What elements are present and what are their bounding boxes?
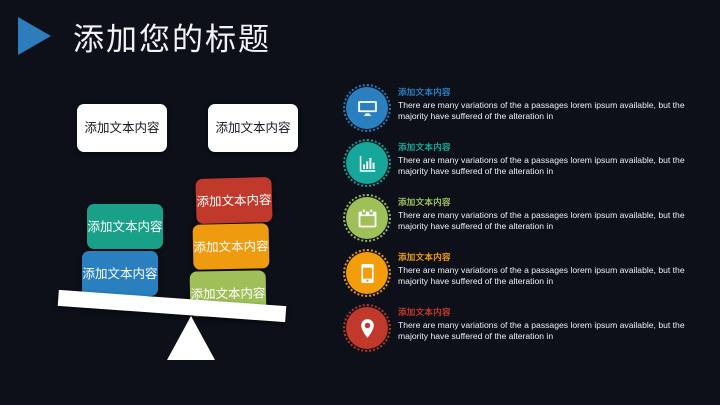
diagram-white-box[interactable]: 添加文本内容 <box>77 104 167 152</box>
list-item-heading: 添加文本内容 <box>398 306 688 318</box>
diagram-right-block-label: 添加文本内容 <box>196 191 271 209</box>
calendar-icon-badge <box>346 197 388 239</box>
diagram-white-box-label: 添加文本内容 <box>84 120 159 136</box>
bar-chart-icon-badge <box>346 142 388 184</box>
list-item[interactable]: 添加文本内容 There are many variations of the … <box>346 85 702 140</box>
list-item-heading: 添加文本内容 <box>398 251 688 263</box>
page-title: 添加您的标题 <box>73 14 271 59</box>
list-item-text: 添加文本内容 There are many variations of the … <box>398 305 688 342</box>
list-item-heading: 添加文本内容 <box>398 86 688 98</box>
dotted-ring <box>343 84 391 132</box>
dotted-ring <box>343 249 391 297</box>
diagram-left-block-label: 添加文本内容 <box>87 219 162 235</box>
dotted-ring <box>343 194 391 242</box>
diagram-right-block[interactable]: 添加文本内容 <box>195 177 272 224</box>
triangle-fulcrum-icon <box>167 316 215 360</box>
list-item[interactable]: 添加文本内容 There are many variations of the … <box>346 195 702 250</box>
monitor-icon-badge <box>346 87 388 129</box>
diagram-right-block-label: 添加文本内容 <box>193 238 268 256</box>
map-pin-icon-badge <box>346 307 388 349</box>
list-item-text: 添加文本内容 There are many variations of the … <box>398 85 688 122</box>
diagram-left-block[interactable]: 添加文本内容 <box>82 251 158 296</box>
diagram-white-box[interactable]: 添加文本内容 <box>208 104 298 152</box>
diagram-left-block[interactable]: 添加文本内容 <box>87 204 163 249</box>
list-item-body: There are many variations of the a passa… <box>398 155 688 177</box>
list-item[interactable]: 添加文本内容 There are many variations of the … <box>346 305 702 360</box>
list-item-body: There are many variations of the a passa… <box>398 265 688 287</box>
list-item[interactable]: 添加文本内容 There are many variations of the … <box>346 250 702 305</box>
list-item-body: There are many variations of the a passa… <box>398 210 688 232</box>
list-item-body: There are many variations of the a passa… <box>398 100 688 122</box>
list-item-text: 添加文本内容 There are many variations of the … <box>398 140 688 177</box>
list-item-text: 添加文本内容 There are many variations of the … <box>398 195 688 232</box>
list-item[interactable]: 添加文本内容 There are many variations of the … <box>346 140 702 195</box>
dotted-ring <box>343 304 391 352</box>
list-item-heading: 添加文本内容 <box>398 141 688 153</box>
feature-list: 添加文本内容 There are many variations of the … <box>346 85 702 360</box>
diagram-right-block[interactable]: 添加文本内容 <box>193 223 270 270</box>
balance-scale-diagram: 添加文本内容 添加文本内容 添加文本内容 添加文本内容 添加文本内容 添加文本内… <box>60 88 345 378</box>
slide-header: 添加您的标题 <box>0 0 720 72</box>
list-item-body: There are many variations of the a passa… <box>398 320 688 342</box>
play-triangle-icon <box>18 17 51 55</box>
dotted-ring <box>343 139 391 187</box>
list-item-heading: 添加文本内容 <box>398 196 688 208</box>
list-item-text: 添加文本内容 There are many variations of the … <box>398 250 688 287</box>
diagram-left-block-label: 添加文本内容 <box>82 266 157 282</box>
diagram-white-box-label: 添加文本内容 <box>215 120 290 136</box>
smartphone-icon-badge <box>346 252 388 294</box>
